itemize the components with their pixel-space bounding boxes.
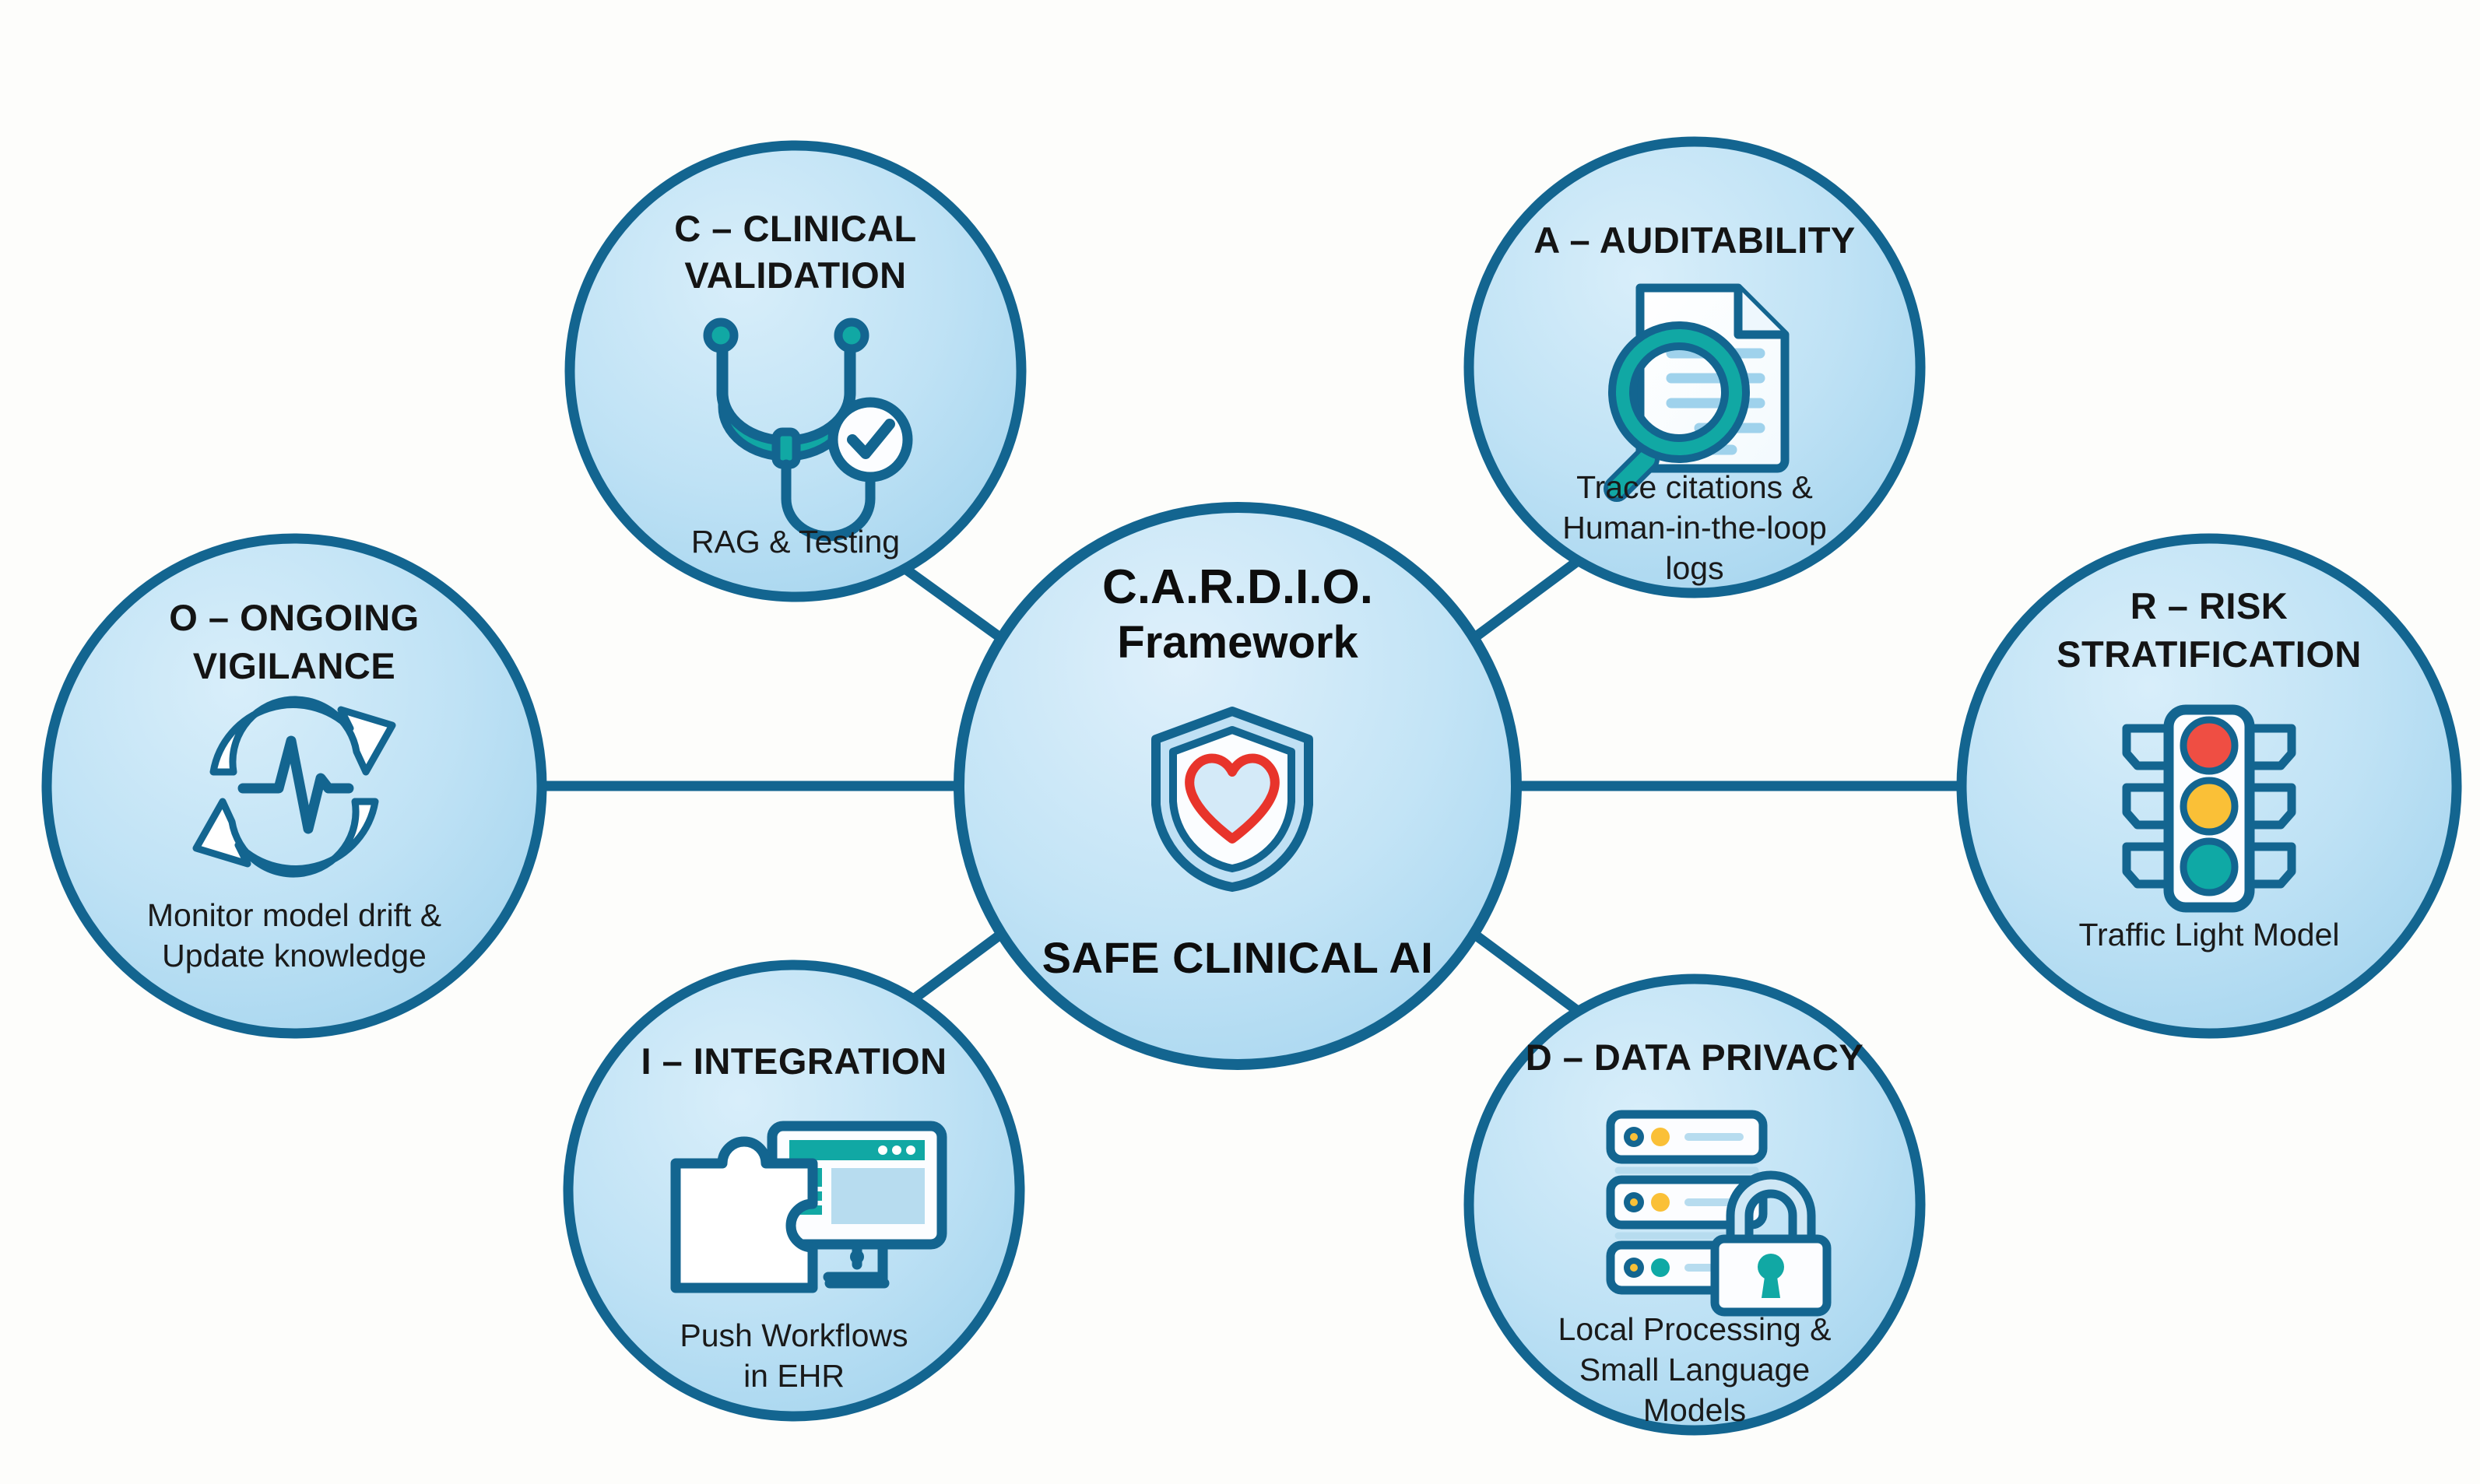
traffic-light-green: [2183, 841, 2235, 893]
center-footer: SAFE CLINICAL AI: [1042, 933, 1434, 982]
node-subtitle-integration-line1: Push Workflows: [680, 1317, 908, 1353]
node-subtitle-data-privacy-line1: Local Processing &: [1558, 1311, 1832, 1347]
node-auditability[interactable]: A – AUDITABILITY Trace citations & Human…: [1469, 142, 1920, 593]
node-ongoing-vigilance[interactable]: O – ONGOING VIGILANCE Monitor model drif…: [47, 539, 542, 1033]
node-subtitle-data-privacy-line2: Small Language: [1579, 1352, 1810, 1388]
node-subtitle-auditability-line2: Human-in-the-loop: [1562, 510, 1827, 546]
node-title-data-privacy-line1: D – DATA PRIVACY: [1526, 1037, 1864, 1078]
node-risk-stratification[interactable]: R – RISK STRATIFICATION Traffic Light Mo…: [1962, 539, 2457, 1033]
node-title-ongoing-vigilance-line1: O – ONGOING: [169, 597, 420, 638]
node-title-auditability-line1: A – AUDITABILITY: [1533, 219, 1856, 261]
node-title-ongoing-vigilance-line2: VIGILANCE: [193, 645, 395, 686]
center-title-line2: Framework: [1117, 617, 1358, 668]
node-integration[interactable]: I – INTEGRATION Push Workflows in EHR: [568, 965, 1020, 1416]
node-clinical-validation[interactable]: C – CLINICAL VALIDATION RAG & Testing: [570, 146, 1021, 597]
node-title-integration-line1: I – INTEGRATION: [641, 1040, 947, 1082]
traffic-light-amber: [2183, 781, 2235, 832]
node-subtitle-ongoing-vigilance-line2: Update knowledge: [162, 938, 427, 974]
node-subtitle-auditability-line3: logs: [1665, 550, 1723, 586]
shield-heart-icon: [1156, 711, 1308, 887]
document-magnifier-icon: [1612, 288, 1785, 489]
center-title-line1: C.A.R.D.I.O.: [1102, 560, 1373, 614]
diagram-canvas: O – ONGOING VIGILANCE Monitor model drif…: [0, 0, 2480, 1484]
node-data-privacy[interactable]: D – DATA PRIVACY Local Proces: [1469, 979, 1920, 1430]
node-subtitle-clinical-validation-line1: RAG & Testing: [691, 524, 900, 560]
node-title-risk-stratification-line2: STRATIFICATION: [2057, 633, 2362, 675]
node-title-clinical-validation-line1: C – CLINICAL: [674, 208, 917, 249]
center-hub[interactable]: C.A.R.D.I.O. Framework SAFE CLINICAL AI: [959, 507, 1516, 1065]
node-subtitle-risk-stratification-line1: Traffic Light Model: [2079, 917, 2340, 952]
node-subtitle-auditability-line1: Trace citations &: [1576, 469, 1813, 505]
node-title-clinical-validation-line2: VALIDATION: [684, 254, 906, 296]
node-title-risk-stratification-line1: R – RISK: [2130, 585, 2289, 626]
node-subtitle-data-privacy-line3: Models: [1643, 1392, 1746, 1428]
traffic-light-red: [2183, 720, 2235, 771]
node-subtitle-ongoing-vigilance-line1: Monitor model drift &: [147, 897, 441, 933]
cardio-framework-diagram: O – ONGOING VIGILANCE Monitor model drif…: [0, 0, 2480, 1484]
node-subtitle-integration-line2: in EHR: [743, 1358, 845, 1394]
